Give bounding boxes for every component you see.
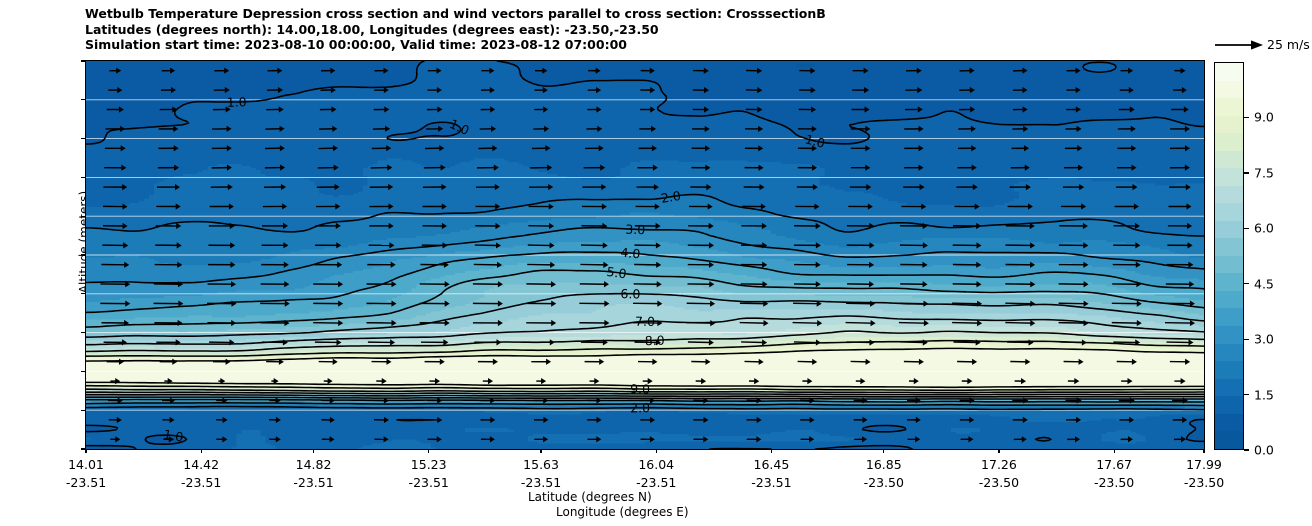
colorbar-ticks: 0.01.53.04.56.07.59.0 xyxy=(0,0,1312,526)
colorbar-tick-mark xyxy=(1244,117,1249,118)
colorbar-tick-label: 3.0 xyxy=(1254,332,1274,347)
colorbar-tick-mark xyxy=(1244,339,1249,340)
colorbar-tick-mark xyxy=(1244,449,1249,450)
colorbar-tick-label: 6.0 xyxy=(1254,221,1274,236)
colorbar-tick-label: 1.5 xyxy=(1254,387,1274,402)
colorbar-tick-label: 9.0 xyxy=(1254,110,1274,125)
colorbar-tick-mark xyxy=(1244,172,1249,173)
colorbar-tick-mark xyxy=(1244,228,1249,229)
figure-root: Wetbulb Temperature Depression cross sec… xyxy=(0,0,1312,526)
colorbar-tick-label: 0.0 xyxy=(1254,443,1274,458)
colorbar-tick-label: 4.5 xyxy=(1254,276,1274,291)
colorbar-tick-mark xyxy=(1244,394,1249,395)
colorbar-tick-mark xyxy=(1244,283,1249,284)
colorbar-tick-label: 7.5 xyxy=(1254,165,1274,180)
